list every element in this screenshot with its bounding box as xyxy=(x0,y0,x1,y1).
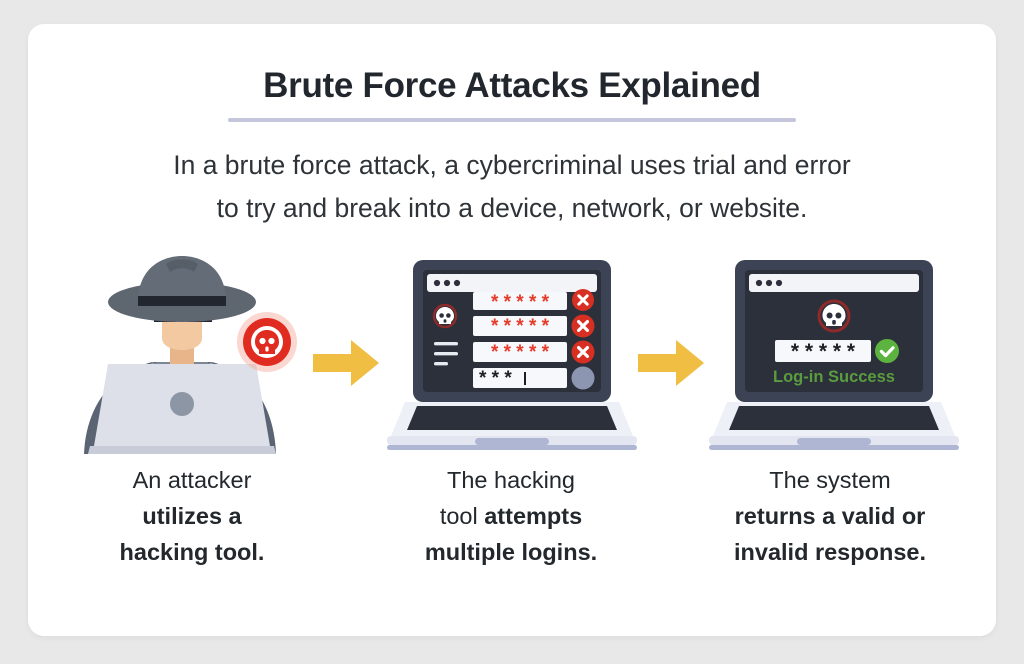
hacker-illustration xyxy=(66,254,316,454)
skull-icon xyxy=(434,305,456,327)
page-subtitle: In a brute force attack, a cybercriminal… xyxy=(92,144,932,230)
infographic-card: Brute Force Attacks Explained In a brute… xyxy=(28,24,996,636)
caption-2-regular-line-2: tool xyxy=(440,503,478,529)
svg-text:* * * * *: * * * * * xyxy=(491,316,550,337)
steps-row: * * * * * * * * * * * * * * * * * * xyxy=(28,254,996,454)
infographic-canvas: Brute Force Attacks Explained In a brute… xyxy=(0,0,1024,664)
caption-hacking-tool: The hacking tool attempts multiple login… xyxy=(377,462,645,570)
step-illustration-attacker xyxy=(66,254,316,454)
caption-3-regular: The system xyxy=(769,467,890,493)
svg-text:* * *: * * * xyxy=(479,368,512,389)
subtitle-line-1: In a brute force attack, a cybercriminal… xyxy=(173,150,851,180)
caption-attacker: An attacker utilizes a hacking tool. xyxy=(58,462,326,570)
caption-3-bold-line-2: invalid response. xyxy=(734,539,926,565)
title-underline-rule xyxy=(228,118,796,122)
skull-badge-icon xyxy=(237,312,297,372)
page-title: Brute Force Attacks Explained xyxy=(28,66,996,106)
svg-text:* * * * *: * * * * * xyxy=(491,292,550,313)
step-illustration-system-response: * * * * * Log-in Success xyxy=(709,254,959,454)
login-status-text: Log-in Success xyxy=(773,368,895,386)
caption-2-regular-line-1: The hacking xyxy=(447,467,575,493)
subtitle-line-2: to try and break into a device, network,… xyxy=(217,193,808,223)
caption-3-bold-line-1: returns a valid or xyxy=(735,503,926,529)
arrow-step2-to-step3 xyxy=(638,340,704,386)
svg-text:* * * * *: * * * * * xyxy=(791,340,856,363)
svg-text:* * * * *: * * * * * xyxy=(491,342,550,363)
caption-2-bold-inline: attempts xyxy=(484,503,582,529)
caption-2-bold-line-2: multiple logins. xyxy=(425,539,597,565)
step-illustration-hacking-tool: * * * * * * * * * * * * * * * * * * xyxy=(387,254,637,454)
caption-1-bold-line-1: utilizes a xyxy=(142,503,241,529)
caption-1-regular: An attacker xyxy=(133,467,252,493)
captions-row: An attacker utilizes a hacking tool. The… xyxy=(28,462,996,592)
laptop-multiple-logins-illustration: * * * * * * * * * * * * * * * * * * xyxy=(387,254,637,454)
arrow-step1-to-step2 xyxy=(313,340,379,386)
caption-system-response: The system returns a valid or invalid re… xyxy=(696,462,964,570)
caption-1-bold-line-2: hacking tool. xyxy=(120,539,265,565)
laptop-login-success-illustration: * * * * * Log-in Success xyxy=(709,254,959,454)
